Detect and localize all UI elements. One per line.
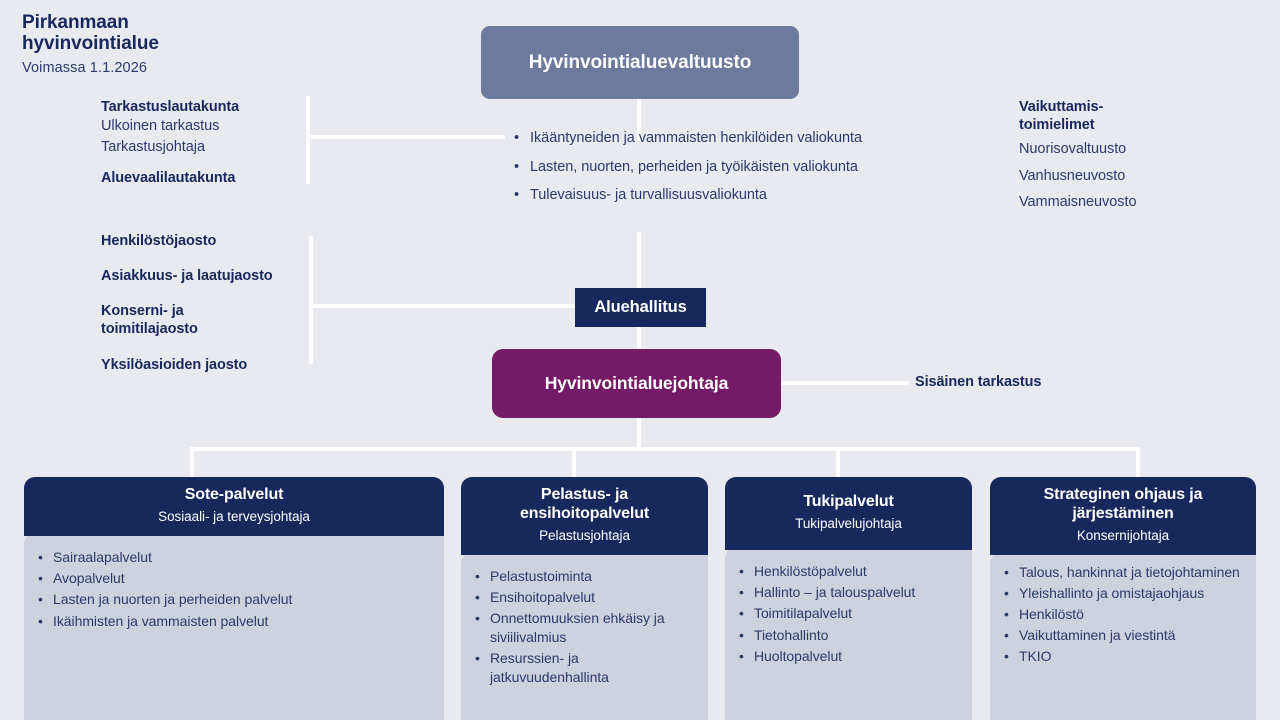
bullet-icon: • [1004,647,1019,666]
service-list-item: • Lasten ja nuorten ja perheiden palvelu… [38,590,434,609]
service-item-label: Pelastustoiminta [490,567,592,586]
bullet-icon: • [38,612,53,631]
service-header-strateginen: Strateginen ohjaus ja järjestäminen Kons… [990,477,1256,555]
council-label: Hyvinvointialuevaltuusto [529,52,751,74]
connector-committees-board [637,232,641,288]
brand-title-line2: hyvinvointialue [22,33,159,54]
service-header-sote: Sote-palvelut Sosiaali- ja terveysjohtaj… [24,477,444,536]
service-item-label: Lasten ja nuorten ja perheiden palvelut [53,590,292,609]
committee-list: • Ikääntyneiden ja vammaisten henkilöide… [514,128,866,206]
service-list-item: • Huoltopalvelut [739,647,962,666]
service-header-tukipalvelut: Tukipalvelut Tukipalvelujohtaja [725,477,972,550]
service-subtitle-pelastus: Pelastusjohtaja [471,527,698,545]
service-list-item: • Ikäihmisten ja vammaisten palvelut [38,612,434,631]
service-item-label: Henkilöstöpalvelut [754,562,867,581]
service-item-label: Hallinto – ja talouspalvelut [754,583,915,602]
connector-audit-horizontal [310,135,505,139]
service-title-sote: Sote-palvelut [34,486,434,505]
service-title-pelastus-line2: ensihoitopalvelut [471,505,698,524]
service-header-pelastus: Pelastus- ja ensihoitopalvelut Pelastusj… [461,477,708,555]
audit-external-line: Ulkoinen tarkastus [101,116,301,137]
influence-heading-line1: Vaikuttamis- [1019,98,1259,116]
division-group-premises-line1: Konserni- ja [101,302,316,320]
service-title-strateginen-line2: järjestäminen [1000,505,1246,524]
service-item-label: Huoltopalvelut [754,647,842,666]
influence-item-disability: Vammaisneuvosto [1019,192,1259,213]
bullet-icon: • [739,562,754,581]
audit-committee-block: Tarkastuslautakunta Ulkoinen tarkastus T… [101,98,301,187]
division-individual-matters: Yksilöasioiden jaosto [101,356,316,374]
service-title-pelastus-line1: Pelastus- ja [471,486,698,505]
validity-date: Voimassa 1.1.2026 [22,60,159,76]
bullet-icon: • [1004,626,1019,645]
influence-heading-line2: toimielimet [1019,116,1259,134]
connector-audit-vertical [306,96,310,184]
service-list-item: • Ensihoitopalvelut [475,588,698,607]
service-list-item: • Avopalvelut [38,569,434,588]
service-body-sote: • Sairaalapalvelut • Avopalvelut • Laste… [24,532,444,720]
service-list-item: • Sairaalapalvelut [38,548,434,567]
service-title-strateginen-line1: Strateginen ohjaus ja [1000,486,1246,505]
service-item-label: Toimitilapalvelut [754,604,852,623]
service-item-label: Vaikuttaminen ja viestintä [1019,626,1175,645]
committee-list-item: • Ikääntyneiden ja vammaisten henkilöide… [514,128,866,149]
service-item-label: Sairaalapalvelut [53,548,152,567]
director-label: Hyvinvointialuejohtaja [545,373,729,394]
brand-title-line1: Pirkanmaan [22,12,159,33]
internal-audit-block: Sisäinen tarkastus [915,373,1105,391]
bullet-icon: • [514,128,530,149]
service-list-item: • Tietohallinto [739,626,962,645]
board-box[interactable]: Aluehallitus [575,288,706,327]
service-item-label: Henkilöstö [1019,605,1084,624]
committee-list-item: • Tulevaisuus- ja turvallisuusvaliokunta [514,185,866,206]
service-card-sote[interactable]: Sote-palvelut Sosiaali- ja terveysjohtaj… [24,477,444,702]
bullet-icon: • [475,649,490,687]
service-item-label: Talous, hankinnat ja tietojohtaminen [1019,563,1240,582]
influence-item-elderly: Vanhusneuvosto [1019,166,1259,187]
director-box[interactable]: Hyvinvointialuejohtaja [492,349,781,418]
connector-drop-sote [190,447,194,480]
service-title-tukipalvelut: Tukipalvelut [735,493,962,512]
service-card-strateginen[interactable]: Strateginen ohjaus ja järjestäminen Kons… [990,477,1256,702]
service-item-label: TKIO [1019,647,1051,666]
service-title-strateginen: Strateginen ohjaus ja järjestäminen [1000,486,1246,524]
service-list-item: • Resurssien- ja jatkuvuudenhallinta [475,649,698,687]
service-subtitle-sote: Sosiaali- ja terveysjohtaja [34,508,434,526]
board-label: Aluehallitus [594,298,686,317]
org-chart: Pirkanmaan hyvinvointialue Voimassa 1.1.… [0,0,1280,720]
bullet-icon: • [38,590,53,609]
connector-drop-tukipalvelut [836,447,840,480]
bullet-icon: • [1004,605,1019,624]
audit-director-line: Tarkastusjohtaja [101,137,301,158]
bullet-icon: • [475,609,490,647]
service-list-item: • Talous, hankinnat ja tietojohtaminen [1004,563,1246,582]
committee-label: Ikääntyneiden ja vammaisten henkilöiden … [530,128,862,149]
service-item-label: Avopalvelut [53,569,125,588]
influence-heading: Vaikuttamis- toimielimet [1019,98,1259,134]
connector-drop-strateginen [1136,447,1140,480]
bullet-icon: • [475,567,490,586]
committee-list-item: • Lasten, nuorten, perheiden ja työikäis… [514,157,866,178]
connector-director-internal-audit [781,381,909,385]
service-subtitle-strateginen: Konsernijohtaja [1000,527,1246,545]
brand-header: Pirkanmaan hyvinvointialue Voimassa 1.1.… [22,12,159,76]
bullet-icon: • [514,157,530,178]
bullet-icon: • [38,548,53,567]
connector-drop-pelastus [572,447,576,480]
bullet-icon: • [739,604,754,623]
division-personnel: Henkilöstöjaosto [101,232,316,250]
bullet-icon: • [739,583,754,602]
service-item-label: Yleishallinto ja omistajaohjaus [1019,584,1204,603]
service-list-item: • Yleishallinto ja omistajaohjaus [1004,584,1246,603]
service-list-item: • Onnettomuuksien ehkäisy ja siviilivalm… [475,609,698,647]
service-body-pelastus: • Pelastustoiminta • Ensihoitopalvelut •… [461,551,708,720]
division-customer-quality: Asiakkuus- ja laatujaosto [101,267,316,285]
service-card-tukipalvelut[interactable]: Tukipalvelut Tukipalvelujohtaja • Henkil… [725,477,972,702]
service-item-label: Ensihoitopalvelut [490,588,595,607]
bullet-icon: • [739,647,754,666]
bullet-icon: • [739,626,754,645]
service-title-pelastus: Pelastus- ja ensihoitopalvelut [471,486,698,524]
committee-label: Tulevaisuus- ja turvallisuusvaliokunta [530,185,767,206]
service-item-label: Onnettomuuksien ehkäisy ja siviilivalmiu… [490,609,698,647]
service-item-label: Resurssien- ja jatkuvuudenhallinta [490,649,698,687]
bullet-icon: • [514,185,530,206]
service-item-label: Ikäihmisten ja vammaisten palvelut [53,612,268,631]
internal-audit-label: Sisäinen tarkastus [915,373,1105,391]
bullet-icon: • [1004,584,1019,603]
election-board-heading: Aluevaalilautakunta [101,169,301,187]
service-list-item: • Hallinto – ja talouspalvelut [739,583,962,602]
division-group-premises: Konserni- ja toimitilajaosto [101,302,316,338]
service-list-item: • Toimitilapalvelut [739,604,962,623]
service-body-tukipalvelut: • Henkilöstöpalvelut • Hallinto – ja tal… [725,546,972,720]
brand-title: Pirkanmaan hyvinvointialue [22,12,159,55]
influence-bodies-block: Vaikuttamis- toimielimet Nuorisovaltuust… [1019,98,1259,213]
connector-services-bus [190,447,1140,451]
service-body-strateginen: • Talous, hankinnat ja tietojohtaminen •… [990,551,1256,720]
service-list-item: • Henkilöstö [1004,605,1246,624]
audit-committee-heading: Tarkastuslautakunta [101,98,301,116]
divisions-block: Henkilöstöjaosto Asiakkuus- ja laatujaos… [101,232,316,374]
bullet-icon: • [1004,563,1019,582]
service-subtitle-tukipalvelut: Tukipalvelujohtaja [735,515,962,533]
influence-item-youth: Nuorisovaltuusto [1019,139,1259,160]
bullet-icon: • [38,569,53,588]
council-box[interactable]: Hyvinvointialuevaltuusto [481,26,799,99]
service-list-item: • Vaikuttaminen ja viestintä [1004,626,1246,645]
committee-label: Lasten, nuorten, perheiden ja työikäiste… [530,157,858,178]
service-item-label: Tietohallinto [754,626,828,645]
service-card-pelastus[interactable]: Pelastus- ja ensihoitopalvelut Pelastusj… [461,477,708,702]
service-list-item: • Henkilöstöpalvelut [739,562,962,581]
service-list-item: • Pelastustoiminta [475,567,698,586]
service-list-item: • TKIO [1004,647,1246,666]
division-group-premises-line2: toimitilajaosto [101,320,316,338]
bullet-icon: • [475,588,490,607]
connector-divisions-horizontal [313,304,578,308]
